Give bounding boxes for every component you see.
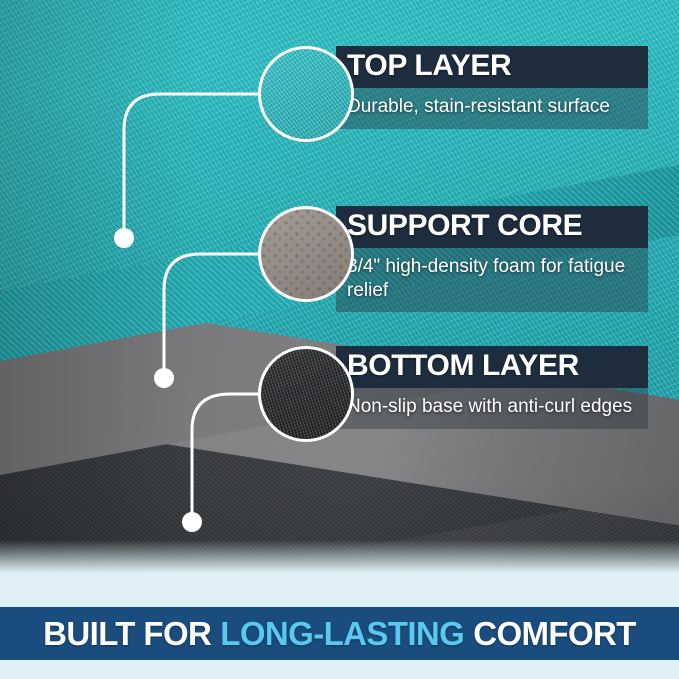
callout-bottom-layer-title-bar: BOTTOM LAYER <box>336 346 648 388</box>
connector-dot-top-layer <box>114 228 134 248</box>
tagline-suffix: COMFORT <box>473 615 636 652</box>
callout-support-core-title: SUPPORT CORE <box>347 211 637 241</box>
callout-bottom-layer-panel: BOTTOM LAYER Non-slip base with anti-cur… <box>336 346 648 429</box>
callout-support-core-description: 3/4" high-density foam for fatigue relie… <box>336 248 648 312</box>
tagline-prefix: BUILT FOR <box>43 615 211 652</box>
dark-woven-swatch-icon <box>258 346 354 442</box>
product-feature-image: TOP LAYER Durable, stain-resistant surfa… <box>0 0 679 679</box>
callout-top-layer-title: TOP LAYER <box>347 51 637 81</box>
tagline-highlight: LONG-LASTING <box>220 615 464 652</box>
connector-dot-bottom-layer <box>182 512 202 532</box>
callout-support-core-title-bar: SUPPORT CORE <box>336 206 648 248</box>
tagline-text: BUILT FORLONG-LASTINGCOMFORT <box>43 615 636 653</box>
connector-dot-support-core <box>154 368 174 388</box>
callout-bottom-layer-title: BOTTOM LAYER <box>347 351 637 381</box>
callout-top-layer-description: Durable, stain-resistant surface <box>336 88 648 129</box>
callout-top-layer-title-bar: TOP LAYER <box>336 46 648 88</box>
callout-support-core-panel: SUPPORT CORE 3/4" high-density foam for … <box>336 206 648 312</box>
callout-top-layer-panel: TOP LAYER Durable, stain-resistant surfa… <box>336 46 648 129</box>
teal-surface-swatch-icon <box>258 46 354 142</box>
gray-foam-swatch-icon <box>258 206 354 302</box>
bottom-tagline-banner: BUILT FORLONG-LASTINGCOMFORT <box>0 607 679 660</box>
callout-bottom-layer-description: Non-slip base with anti-curl edges <box>336 388 648 429</box>
